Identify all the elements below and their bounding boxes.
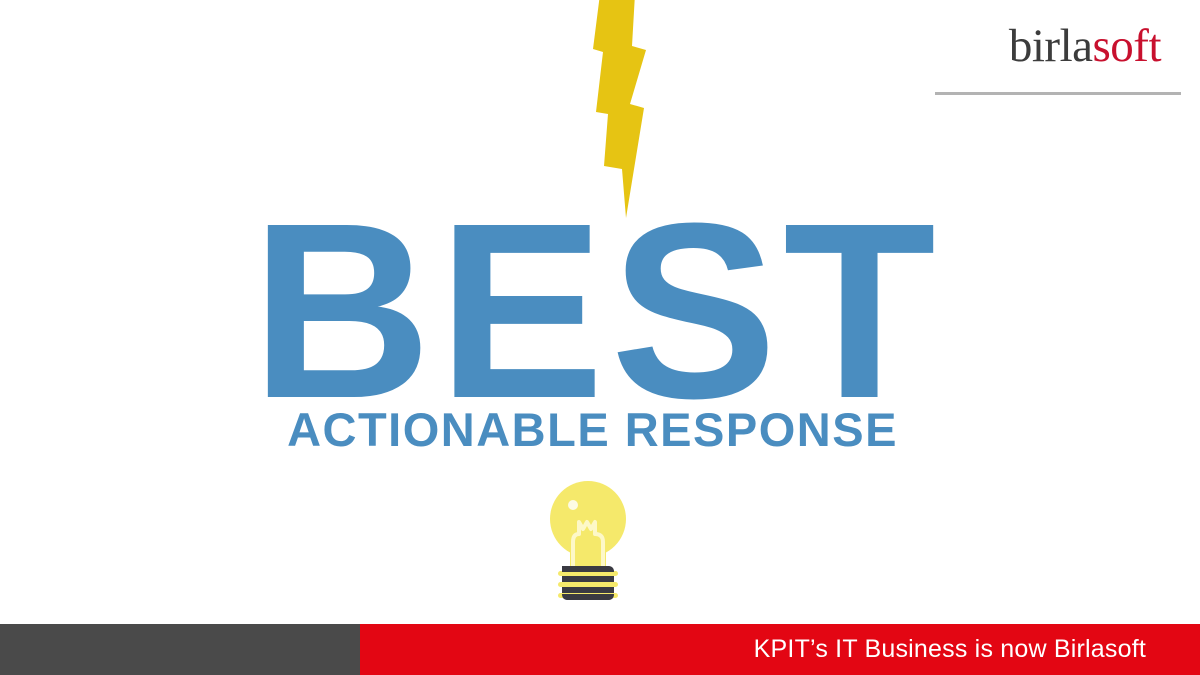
logo-underline-rule (935, 92, 1181, 95)
banner-message: KPIT’s IT Business is now Birlasoft (754, 624, 1146, 675)
logo-wordmark: birlasoft (1009, 18, 1161, 74)
bottom-banner: KPIT’s IT Business is now Birlasoft (0, 624, 1200, 675)
logo-text-soft: soft (1093, 20, 1162, 72)
slide-canvas: BEST ACTIONABLE RESPONSE birlasoft KPIT’… (0, 0, 1200, 675)
light-bulb-icon (543, 472, 633, 608)
brand-logo: birlasoft (935, 18, 1181, 98)
page-subtitle: ACTIONABLE RESPONSE (0, 406, 1185, 454)
logo-text-birla: birla (1009, 20, 1093, 72)
page-title: BEST (0, 186, 1193, 436)
banner-gray-segment (0, 624, 360, 675)
